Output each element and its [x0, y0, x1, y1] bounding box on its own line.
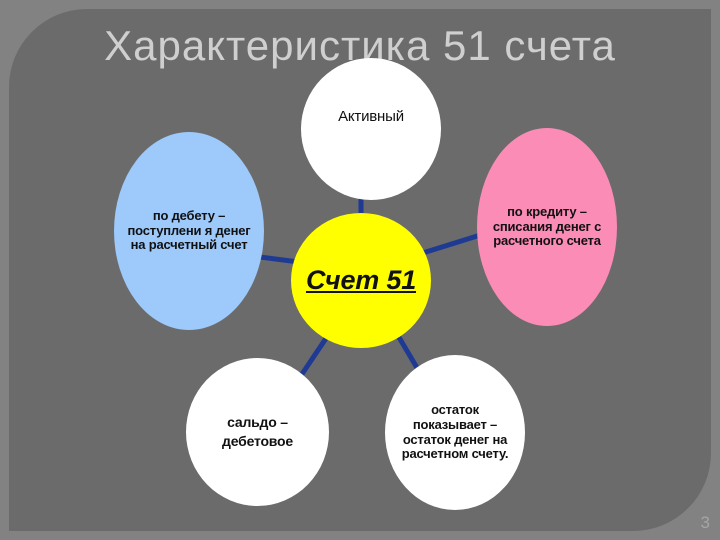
- node-credit-label: по кредиту – списания денег с расчетного…: [477, 205, 617, 249]
- presentation-slide: Характеристика 51 счета Активный по дебе…: [0, 0, 720, 540]
- node-ostatok-label: остаток показывает – остаток денег на ра…: [385, 403, 525, 461]
- node-saldo[interactable]: сальдо – дебетовое: [186, 358, 329, 506]
- slide-number: 3: [701, 513, 710, 533]
- node-debit[interactable]: по дебету – поступлени я денег на расчет…: [114, 132, 264, 330]
- node-debit-label: по дебету – поступлени я денег на расчет…: [114, 209, 264, 253]
- node-center-label: Счет 51: [291, 261, 431, 300]
- node-ostatok[interactable]: остаток показывает – остаток денег на ра…: [385, 355, 525, 510]
- node-credit[interactable]: по кредиту – списания денег с расчетного…: [477, 128, 617, 326]
- node-active[interactable]: Активный: [301, 58, 441, 200]
- node-center-account[interactable]: Счет 51: [291, 213, 431, 348]
- node-saldo-label: сальдо – дебетовое: [186, 413, 329, 451]
- node-active-label: Активный: [301, 109, 441, 126]
